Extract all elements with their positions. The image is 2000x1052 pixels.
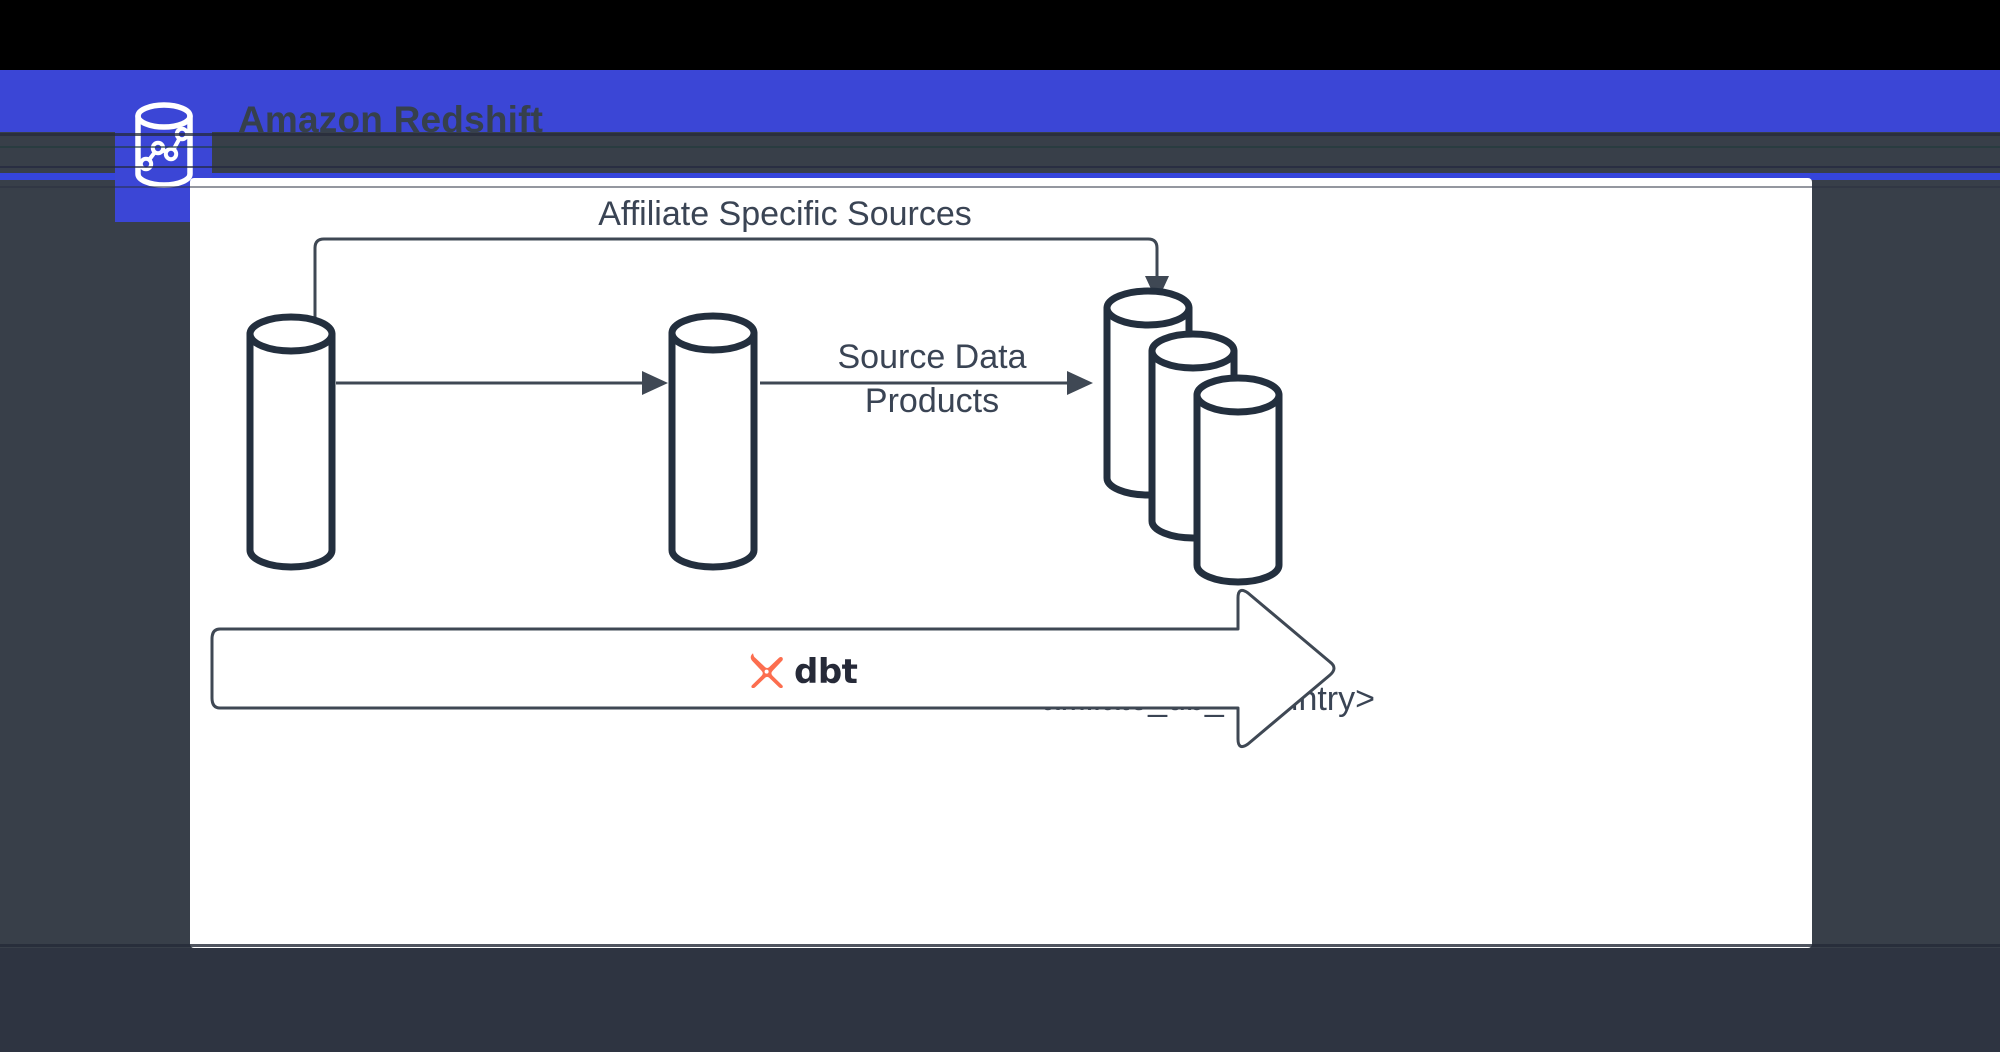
diagram-card: Affiliate Specific Sources Sources bbox=[190, 178, 1812, 948]
page-background-lower bbox=[0, 948, 2000, 1052]
database-cylinder-icon bbox=[250, 317, 332, 567]
page-title: Amazon Redshift bbox=[238, 98, 543, 142]
dbt-logo: dbt bbox=[747, 650, 857, 693]
edge-label-affiliate-specific-sources: Affiliate Specific Sources bbox=[598, 195, 972, 233]
node-sources[interactable]: Sources bbox=[229, 317, 354, 664]
dbt-wordmark: dbt bbox=[794, 655, 857, 689]
edge-label-source-data-line2: Products bbox=[865, 382, 999, 420]
stacked-database-icon bbox=[1107, 291, 1279, 582]
redshift-database-chart-icon bbox=[131, 102, 197, 190]
database-cylinder-icon bbox=[672, 316, 754, 567]
edge-sources-to-integrated bbox=[336, 371, 668, 395]
screenshot-root: Amazon Redshift Affiliate Specific Sourc… bbox=[0, 0, 2000, 1052]
architecture-diagram: Affiliate Specific Sources Sources bbox=[190, 178, 1812, 948]
node-integrated[interactable]: Integrated bbox=[636, 316, 789, 664]
edge-label-source-data-line1: Source Data bbox=[838, 338, 1027, 376]
dbt-x-logo-icon bbox=[747, 650, 785, 693]
